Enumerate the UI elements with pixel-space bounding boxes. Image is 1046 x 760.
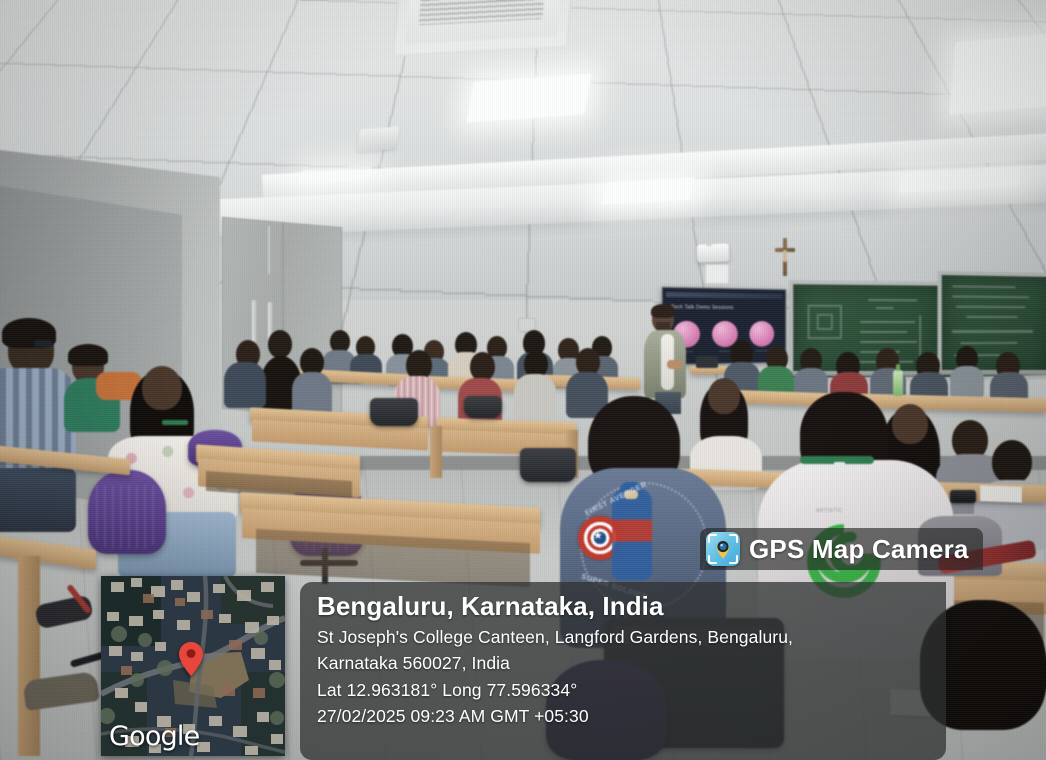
paper-sheet [980,485,1022,502]
gps-timestamp: 27/02/2025 09:23 AM GMT +05:30 [317,703,946,730]
projector-label [705,264,729,284]
crucifix-icon [783,238,787,276]
gps-place: Bengaluru, Karnataka, India [317,591,946,622]
ceiling-light [949,33,1046,115]
gps-address-line-1: St Joseph's College Canteen, Langford Ga… [317,624,946,651]
gps-info-panel: Bengaluru, Karnataka, India St Joseph's … [300,582,946,760]
id-badge [834,462,845,470]
chalkboard [938,271,1046,381]
gps-map-camera-photo: Tech Talk Demo Sessions — — — — — — — — … [0,0,1046,760]
gps-coordinates: Lat 12.963181° Long 77.596334° [317,677,946,704]
door-cord [268,226,270,274]
gps-map-camera-icon [706,532,740,566]
chair-slats [96,485,158,549]
slide-title: Tech Talk Demo Sessions [671,304,734,311]
slide-header-bar [666,292,783,299]
backpack [520,448,576,482]
door-handle [252,300,257,344]
backpack [464,396,502,418]
projector [697,243,730,262]
gps-app-name: GPS Map Camera [749,536,969,562]
desk-leg [430,426,442,478]
gps-map-thumbnail: Google [101,576,285,756]
water-bottle [893,370,903,396]
gps-map-camera-badge: GPS Map Camera [700,528,983,570]
ceiling-sensor-icon [356,126,399,151]
desk-leg [18,556,40,756]
smartphone [950,490,976,503]
shirt-small-text: ARTISTIC [816,508,843,514]
gps-address-line-2: Karnataka 560027, India [317,650,946,677]
trousers [0,468,76,532]
chair [88,470,166,554]
backpack [370,398,418,426]
chalk-drawing [808,305,842,339]
laptop [696,356,718,368]
eyeglasses-icon [34,340,52,347]
google-watermark: Google [109,721,199,752]
slide-circle [749,321,774,347]
map-pin-icon [179,642,203,676]
star-icon: ★ [593,531,603,542]
